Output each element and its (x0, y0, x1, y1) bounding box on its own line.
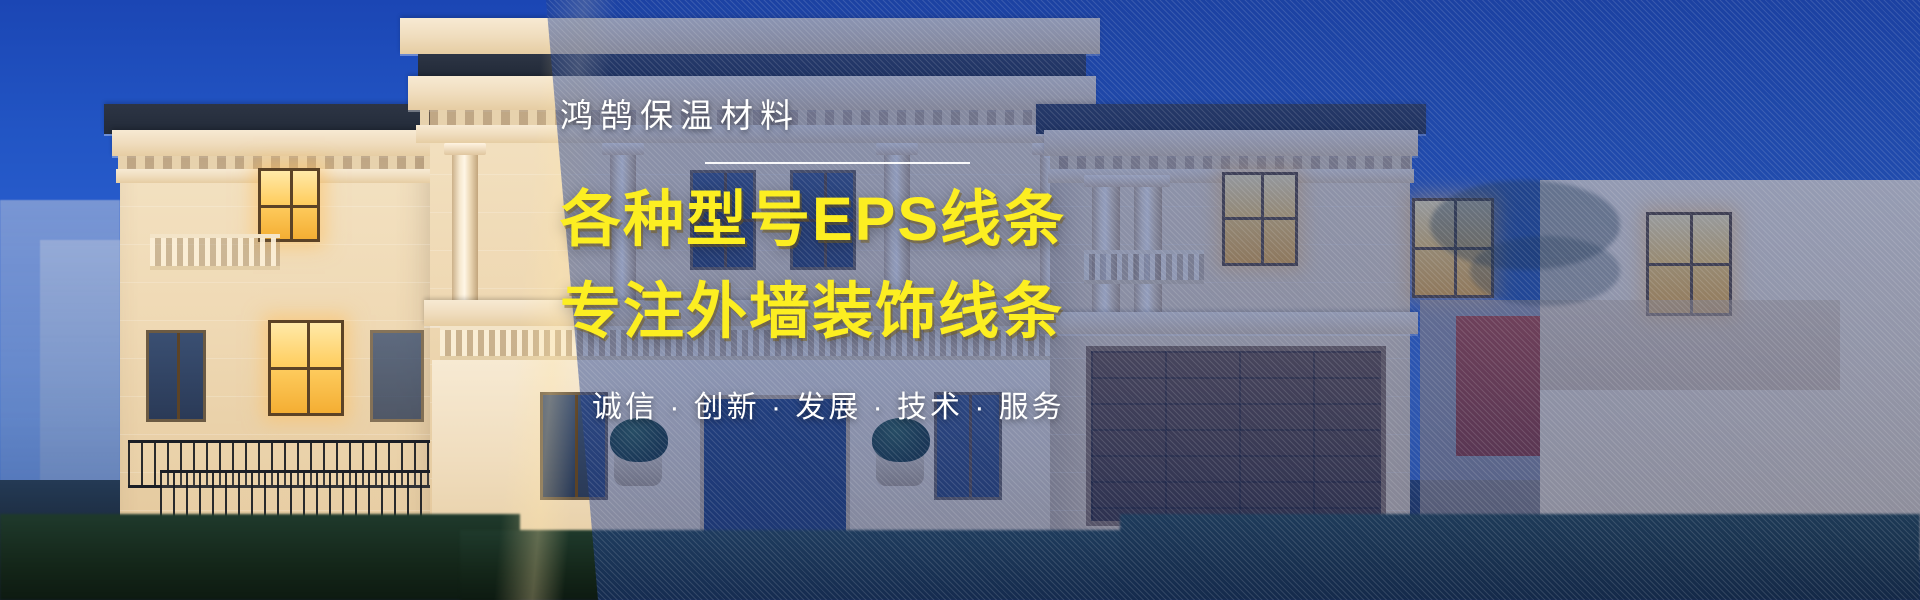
balustrade-left (150, 234, 280, 270)
far-right-shadow (1540, 300, 1840, 390)
left-wing-cornice (112, 130, 458, 156)
window-right-upper-lit (1222, 172, 1298, 266)
hedge-center (460, 530, 1160, 600)
divider-rule (705, 162, 970, 164)
headline-line-1: 各种型号EPS线条 (560, 182, 1180, 256)
window-left-lower-1 (146, 330, 206, 422)
hedge-right (1120, 514, 1920, 600)
banner-copy-block: 鸿鹄保温材料 各种型号EPS线条 专注外墙装饰线条 诚信 · 创新 · 发展 ·… (560, 96, 1180, 426)
brand-subtitle: 鸿鹄保温材料 (560, 96, 1180, 136)
values-tagline: 诚信 · 创新 · 发展 · 技术 · 服务 (560, 382, 1180, 426)
hedge-left (0, 514, 520, 600)
tree-foliage-right-2 (1470, 236, 1620, 306)
window-left-upper-2 (268, 320, 344, 416)
promo-banner: 鸿鹄保温材料 各种型号EPS线条 专注外墙装饰线条 诚信 · 创新 · 发展 ·… (0, 0, 1920, 600)
column-upper-1 (452, 150, 478, 300)
column-cap-1 (444, 143, 486, 155)
window-left-upper-1 (258, 168, 320, 242)
central-roof-line (418, 54, 1086, 76)
central-top-entablature (400, 18, 1100, 54)
headline-line-2: 专注外墙装饰线条 (560, 274, 1180, 348)
window-left-lower-2 (370, 330, 424, 422)
